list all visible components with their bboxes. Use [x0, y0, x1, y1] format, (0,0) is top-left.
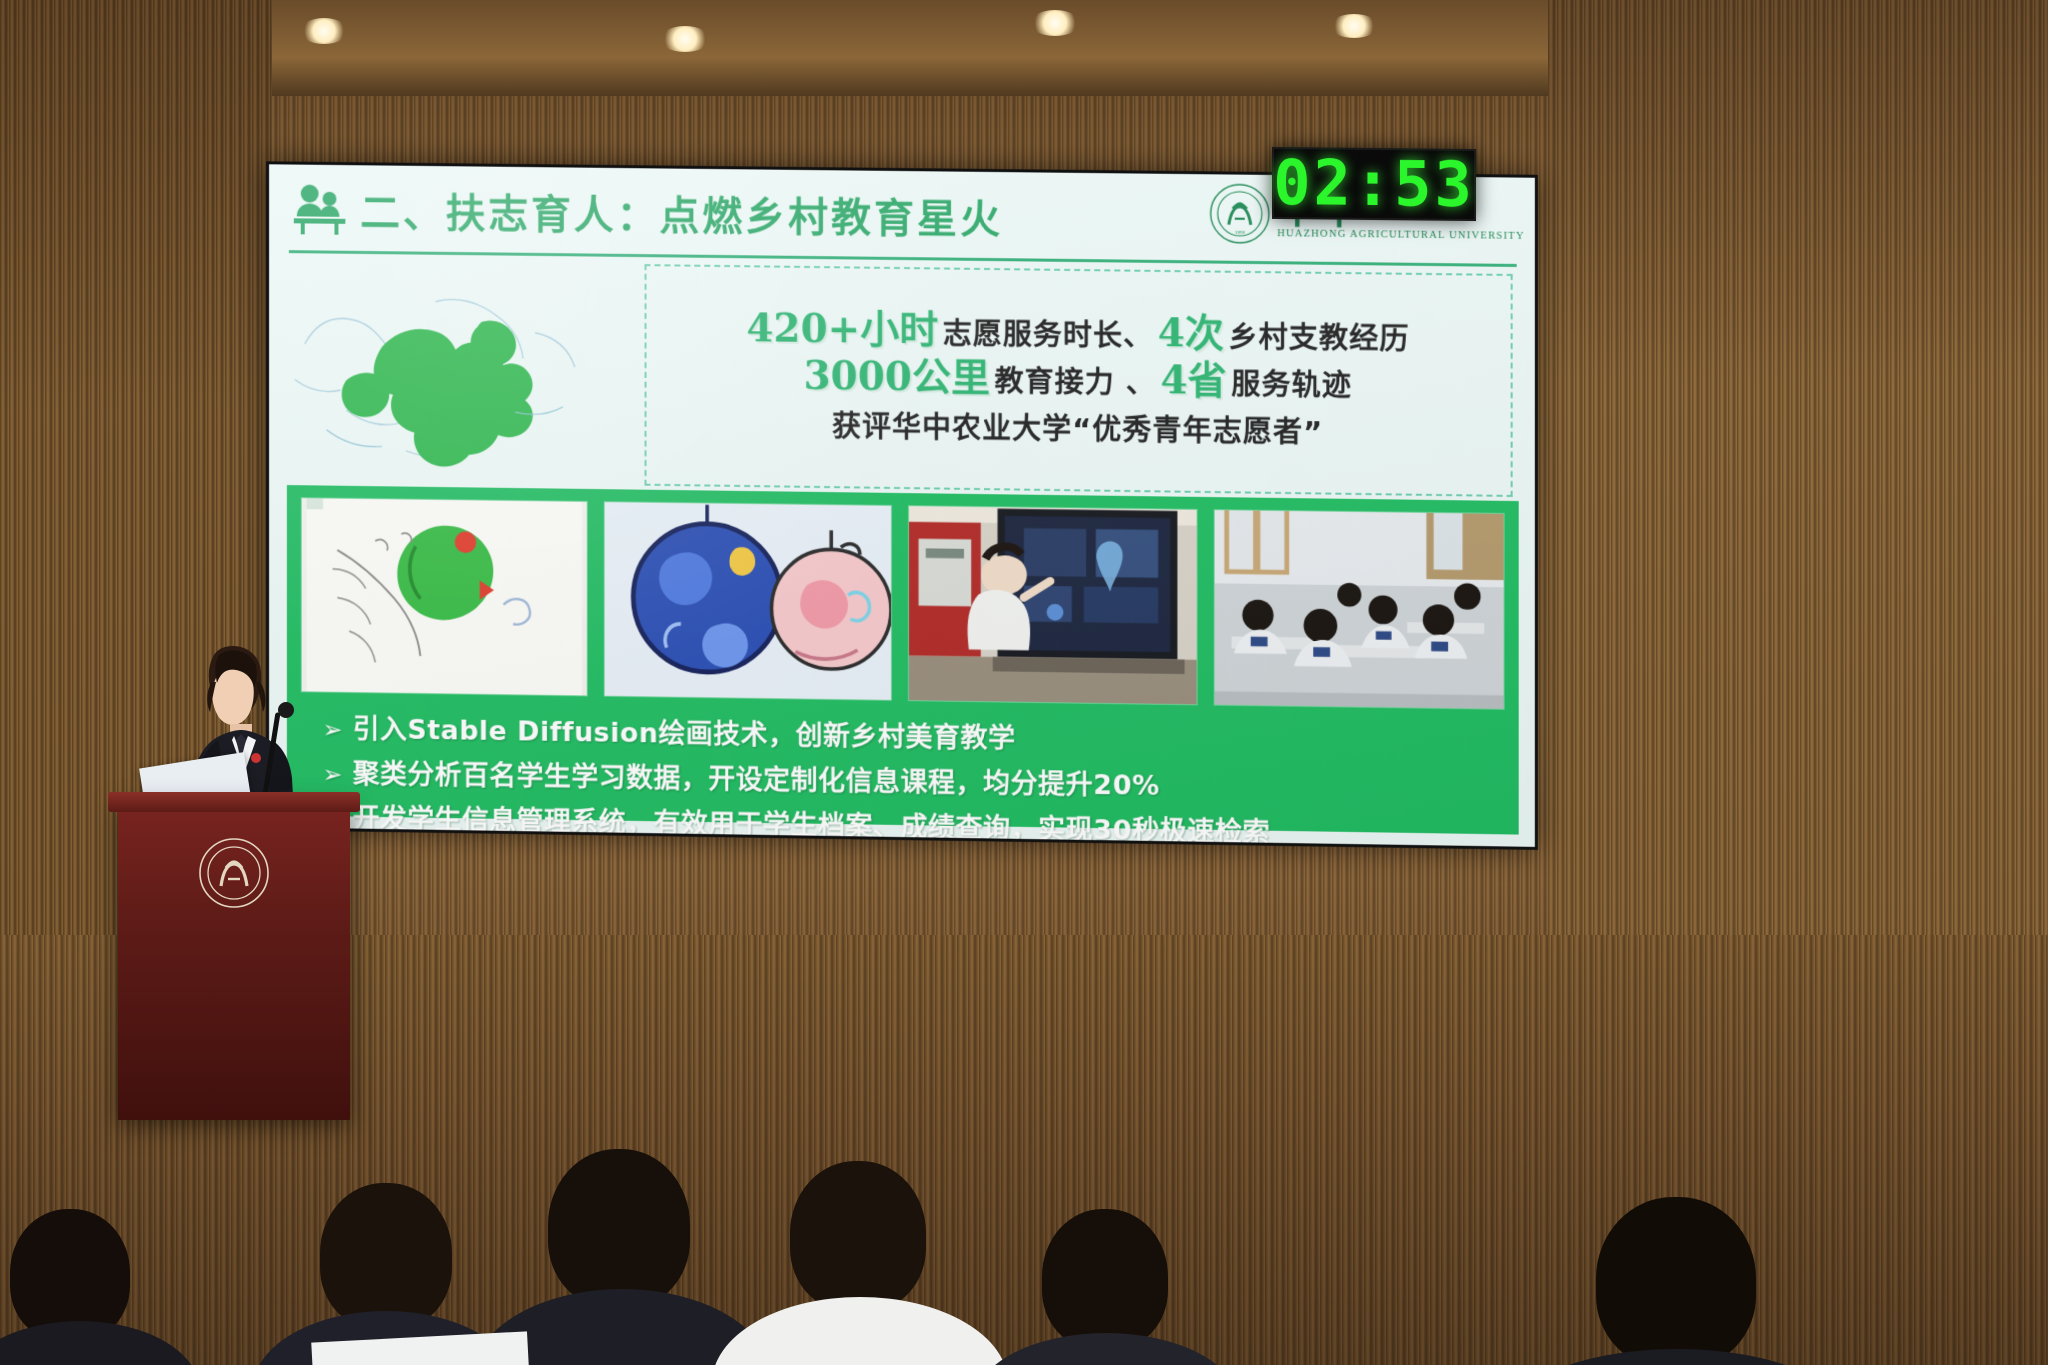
ceiling-light [660, 26, 710, 52]
statistics-panel: 420+小时 志愿服务时长、 4次 乡村支教经历 3000公里 教育接力 、 4… [645, 264, 1513, 497]
photo-students-in-class[interactable] [1214, 509, 1505, 710]
lectern-top [108, 792, 360, 812]
audience-head [790, 1161, 926, 1311]
stat-value: 4次 [1158, 310, 1224, 357]
photo-child-crayon-drawing[interactable] [301, 497, 588, 696]
audience-head [548, 1149, 690, 1307]
people-group-icon [291, 182, 350, 234]
audience-shoulders [974, 1333, 1238, 1365]
seal-year: 1898 [1235, 231, 1246, 236]
bullet-text: 引入Stable Diffusion绘画技术，创新乡村美育教学 [353, 707, 1016, 756]
stat-label: 教育接力 、 [994, 364, 1155, 400]
green-content-band: ➢ 引入Stable Diffusion绘画技术，创新乡村美育教学 ➢ 聚类分析… [287, 485, 1519, 835]
audience-head [1042, 1209, 1168, 1349]
stat-value: 4省 [1160, 357, 1226, 404]
ceiling-light [300, 18, 348, 44]
page-title: 二、扶志育人：点燃乡村教育星火 [360, 180, 1003, 245]
projection-screen[interactable]: 二、扶志育人：点燃乡村教育星火 1898 华中 HUAZHONG AGRICUL… [266, 161, 1538, 850]
china-provinces-map [287, 260, 635, 486]
seated-audience [0, 1105, 2048, 1365]
audience-shoulders [712, 1297, 1008, 1365]
photo-painted-fans[interactable] [604, 501, 892, 701]
stat-label: 服务轨迹 [1231, 367, 1352, 403]
university-seal-icon: 1898 [1209, 182, 1271, 245]
timer-value: 02:53 [1273, 152, 1475, 216]
audience-head [1596, 1197, 1756, 1365]
microphone-head-icon [278, 702, 294, 718]
stat-line: 420+小时 志愿服务时长、 4次 乡村支教经历 [746, 308, 1409, 357]
audience-head [320, 1183, 452, 1329]
university-seal-icon [197, 836, 271, 910]
photo-gallery [301, 497, 1505, 710]
stat-label: 志愿服务时长、 [943, 317, 1153, 354]
bullet-list: ➢ 引入Stable Diffusion绘画技术，创新乡村美育教学 ➢ 聚类分析… [323, 707, 1499, 847]
presentation-slide: 二、扶志育人：点燃乡村教育星火 1898 华中 HUAZHONG AGRICUL… [269, 164, 1535, 847]
lectern [118, 800, 350, 1120]
ceiling-light [1330, 14, 1378, 38]
stat-value: 3000公里 [803, 353, 990, 401]
photo-classroom-smartboard[interactable] [908, 505, 1198, 705]
stat-value: 420+小时 [746, 305, 938, 353]
audience-shoulders [0, 1321, 200, 1365]
stat-line: 3000公里 教育接力 、 4省 服务轨迹 [803, 356, 1352, 404]
countdown-timer[interactable]: 02:53 [1272, 147, 1476, 221]
auditorium-scene: 二、扶志育人：点燃乡村教育星火 1898 华中 HUAZHONG AGRICUL… [0, 0, 2048, 1365]
award-text: 获评华中农业大学“优秀青年志愿者” [832, 403, 1323, 451]
bullet-text: 聚类分析百名学生学习数据，开设定制化信息课程，均分提升20% [353, 752, 1160, 803]
audience-shoulders [1512, 1349, 1842, 1365]
university-name-en: HUAZHONG AGRICULTURAL UNIVERSITY [1277, 228, 1525, 242]
slide-top-area: 420+小时 志愿服务时长、 4次 乡村支教经历 3000公里 教育接力 、 4… [287, 260, 1519, 497]
stat-label: 乡村支教经历 [1229, 320, 1410, 356]
ceiling-light [1030, 10, 1080, 36]
